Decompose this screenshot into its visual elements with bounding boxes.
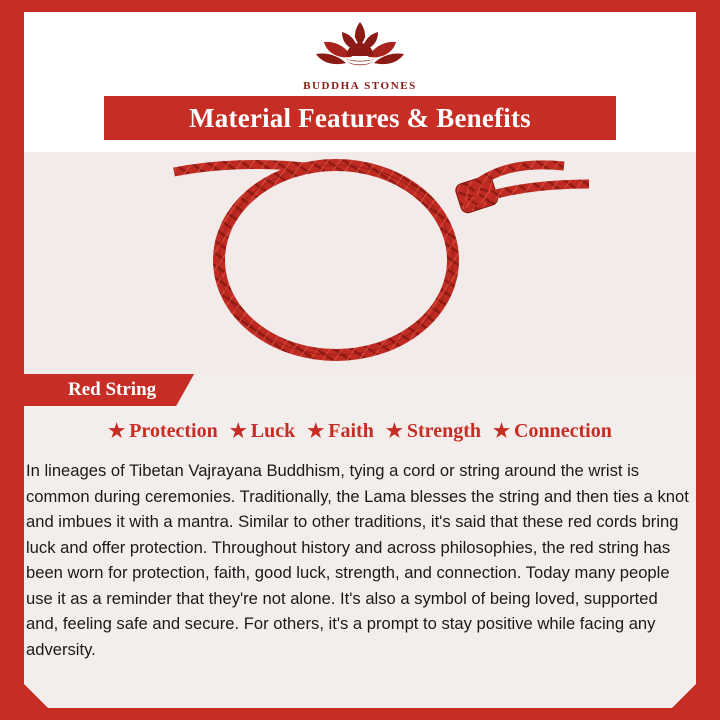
frame-left-edge [0, 0, 24, 720]
benefits-list: ★ Protection ★ Luck ★ Faith ★ Strength ★… [24, 420, 696, 443]
infographic-page: BUDDHA STONES Material Features & Benefi… [0, 0, 720, 720]
frame-right-edge [696, 0, 720, 720]
product-name-tag: Red String [24, 374, 194, 406]
product-image [24, 150, 696, 372]
frame-top-edge [0, 0, 720, 12]
star-icon: ★ [493, 422, 510, 441]
benefit-label: Protection [129, 420, 218, 443]
frame-bottom-edge [0, 708, 720, 720]
star-icon: ★ [108, 422, 125, 441]
lotus-meditation-icon [312, 16, 408, 78]
benefit-label: Strength [407, 420, 481, 443]
frame-corner-bottom-left [0, 660, 60, 720]
product-name-label: Red String [68, 379, 156, 401]
brand-name: BUDDHA STONES [0, 80, 720, 92]
benefit-item-connection: ★ Connection [487, 420, 618, 443]
benefit-label: Faith [328, 420, 374, 443]
star-icon: ★ [230, 422, 247, 441]
brand-logo: BUDDHA STONES [0, 16, 720, 92]
frame-corner-bottom-right [660, 660, 720, 720]
banner-title: Material Features & Benefits [104, 96, 616, 140]
star-icon: ★ [307, 422, 324, 441]
benefit-item-luck: ★ Luck [224, 420, 302, 443]
description-paragraph: In lineages of Tibetan Vajrayana Buddhis… [26, 458, 694, 662]
benefit-item-faith: ★ Faith [301, 420, 380, 443]
red-braided-string-bracelet-icon [24, 150, 696, 372]
benefit-label: Connection [514, 420, 612, 443]
benefit-item-protection: ★ Protection [102, 420, 224, 443]
star-icon: ★ [386, 422, 403, 441]
banner-title-text: Material Features & Benefits [189, 103, 531, 134]
benefit-label: Luck [251, 420, 295, 443]
benefit-item-strength: ★ Strength [380, 420, 487, 443]
